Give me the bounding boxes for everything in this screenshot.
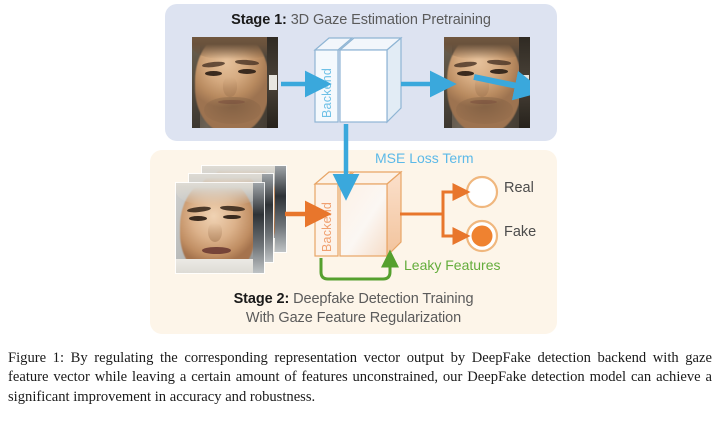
stage1-output-face-image bbox=[444, 37, 530, 128]
figure-caption: Figure 1: By regulating the correspondin… bbox=[8, 349, 712, 407]
stage2-backend-box: Backend bbox=[307, 168, 407, 268]
face-stack-front bbox=[176, 183, 264, 273]
fake-outcome-circle[interactable] bbox=[462, 216, 502, 256]
real-label: Real bbox=[504, 180, 534, 196]
stage1-title: Stage 1: 3D Gaze Estimation Pretraining bbox=[165, 12, 557, 28]
face-collar bbox=[176, 259, 264, 273]
leaky-features-label: Leaky Features bbox=[404, 257, 501, 273]
face-nose bbox=[208, 223, 222, 243]
stage2-input-face-stack bbox=[176, 166, 294, 274]
face-mouth bbox=[202, 247, 230, 254]
stage2-title-prefix: Stage 2: bbox=[234, 291, 290, 307]
face-eye-left bbox=[205, 71, 222, 76]
stage1-backend-label: Backend bbox=[320, 56, 334, 118]
stage2-title-line1-rest: Deepfake Detection Training bbox=[289, 291, 473, 307]
face-hair bbox=[192, 37, 276, 59]
stage2-backend-label: Backend bbox=[320, 190, 334, 252]
stage2-title-line2: With Gaze Feature Regularization bbox=[150, 310, 557, 326]
face-nose bbox=[223, 77, 237, 97]
figure-diagram: Stage 1: 3D Gaze Estimation Pretraining bbox=[0, 0, 720, 345]
fake-label: Fake bbox=[504, 224, 536, 240]
stage2-title-line1: Stage 2: Deepfake Detection Training bbox=[150, 291, 557, 307]
gaze-direction-arrow-icon bbox=[444, 37, 530, 128]
face-right-highlight bbox=[269, 75, 277, 90]
stage1-title-prefix: Stage 1: bbox=[231, 12, 287, 28]
face-eye-right bbox=[238, 69, 256, 74]
stage1-title-rest: 3D Gaze Estimation Pretraining bbox=[287, 12, 491, 28]
face-right-strip bbox=[275, 166, 286, 252]
caption-text: By regulating the corresponding represen… bbox=[8, 350, 712, 405]
caption-label: Figure 1: bbox=[8, 350, 64, 366]
face-right-strip bbox=[253, 183, 264, 273]
stage1-input-face-image bbox=[192, 37, 278, 128]
mse-loss-term-label: MSE Loss Term bbox=[375, 150, 474, 166]
real-outcome-circle[interactable] bbox=[462, 172, 502, 212]
face-hair bbox=[176, 183, 262, 205]
stage1-backend-box: Backend bbox=[307, 36, 407, 134]
